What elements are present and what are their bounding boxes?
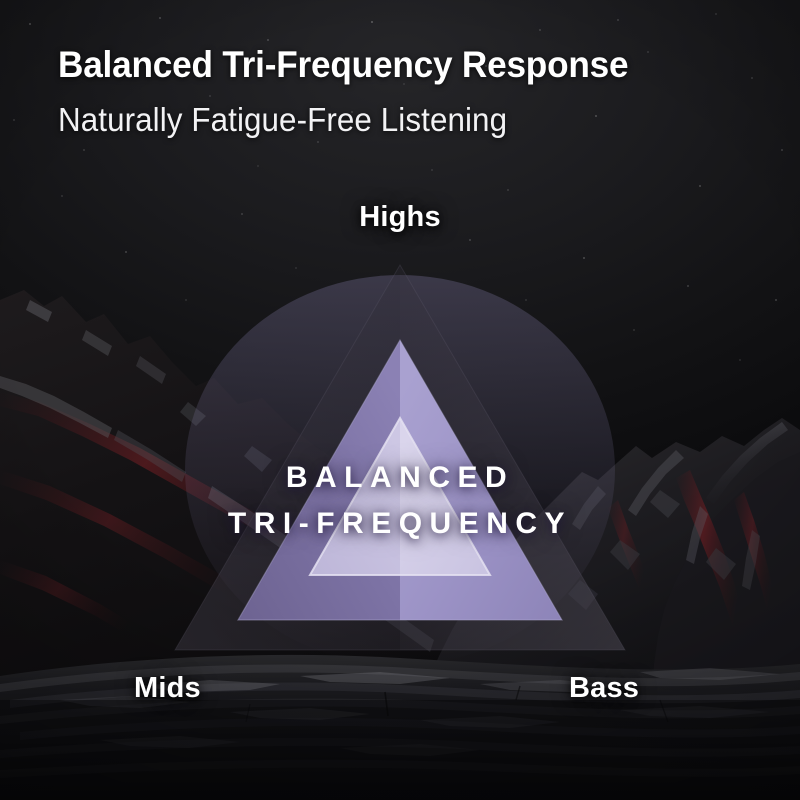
node-label-bass: Bass [569, 672, 639, 705]
node-label-mids: Mids [134, 672, 201, 705]
page-title: Balanced Tri-Frequency Response [58, 44, 628, 86]
promo-banner: Balanced Tri-Frequency Response Naturall… [0, 0, 800, 800]
page-subtitle: Naturally Fatigue-Free Listening [58, 101, 507, 139]
node-label-highs: Highs [0, 201, 800, 234]
